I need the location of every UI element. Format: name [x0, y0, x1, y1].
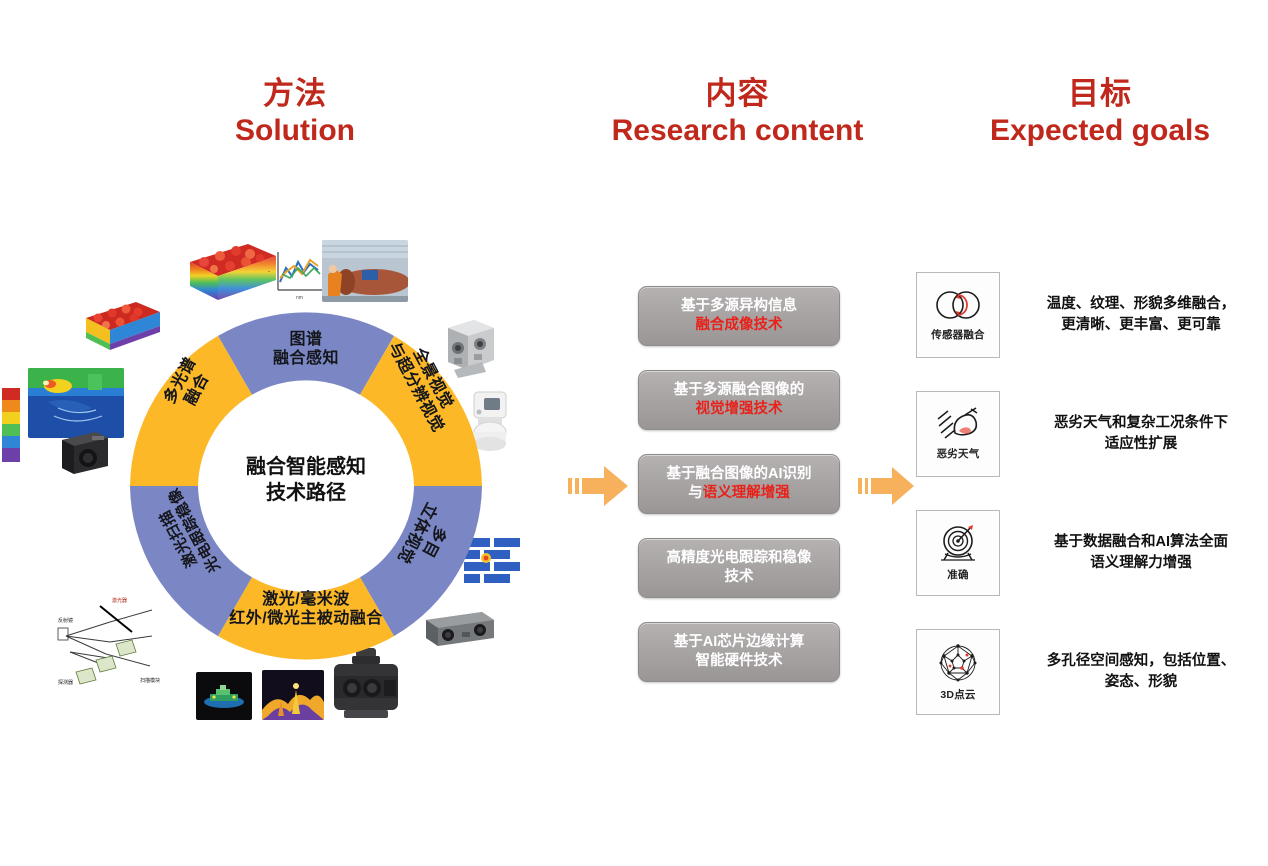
content-box-line1: 基于多源异构信息: [681, 297, 797, 316]
content-box-line1: 基于融合图像的AI识别: [667, 465, 812, 484]
thermal-camera-photo: [56, 424, 112, 476]
content-box-line2: 融合成像技术: [696, 316, 783, 335]
night-vision-scene-image: [196, 672, 252, 720]
hyperspectral-cube-image: [186, 240, 278, 306]
research-content-list: 基于多源异构信息 融合成像技术 基于多源融合图像的 视觉增强技术 基于融合图像的…: [638, 286, 838, 706]
svg-text:扫描模块: 扫描模块: [140, 677, 160, 684]
goal-text: 多孔径空间感知，包括位置、 姿态、形貌: [1028, 651, 1254, 692]
column-heading-content: 内容 Research content: [565, 76, 910, 148]
column-heading-solution: 方法 Solution: [160, 76, 430, 148]
content-box-line1: 基于AI芯片边缘计算: [674, 633, 805, 652]
heading-content-cn: 内容: [565, 76, 910, 113]
goal-icon-card[interactable]: 3D点云: [916, 629, 1000, 715]
solution-wheel: 图谱 融合感知 全景视觉 与超分辨视觉 多目 立体视觉 激光/毫米波 红外/微光…: [122, 302, 490, 670]
goal-icon-card[interactable]: 传感器融合: [916, 272, 1000, 358]
heading-solution-en: Solution: [160, 113, 430, 148]
goal-icon-card[interactable]: 准确: [916, 510, 1000, 596]
sensor-fusion-icon: [931, 288, 985, 324]
target-accuracy-icon: [935, 524, 981, 564]
spectral-strip-image: [0, 388, 22, 464]
goal-icon-label: 3D点云: [940, 687, 975, 702]
expected-goals-list: 传感器融合 温度、纹理、形貌多维融合， 更清晰、更丰富、更可靠 恶劣天气 恶劣天…: [916, 272, 1256, 748]
content-box-line2: 智能硬件技术: [696, 652, 783, 671]
content-box[interactable]: 基于AI芯片边缘计算 智能硬件技术: [638, 622, 840, 682]
heading-goals-cn: 目标: [940, 76, 1260, 113]
svg-text:反射镜: 反射镜: [58, 617, 73, 624]
content-box[interactable]: 高精度光电跟踪和稳像 技术: [638, 538, 840, 598]
goal-text: 温度、纹理、形貌多维融合， 更清晰、更丰富、更可靠: [1028, 294, 1254, 335]
goal-row: 3D点云 多孔径空间感知，包括位置、 姿态、形貌: [916, 629, 1256, 715]
wheel-label-top: 图谱 融合感知: [226, 330, 386, 368]
goal-text: 恶劣天气和复杂工况条件下 适应性扩展: [1028, 413, 1254, 454]
wheel-center-label: 融合智能感知 技术路径: [206, 454, 406, 507]
wheel-label-bottom: 激光/毫米波 红外/微光主被动融合: [168, 590, 444, 628]
pipeline-inspection-photo: [322, 240, 408, 302]
goal-row: 准确 基于数据融合和AI算法全面 语义理解力增强: [916, 510, 1256, 596]
svg-text:I: I: [268, 271, 272, 272]
content-box-line2: 语义理解增强: [703, 485, 790, 501]
goal-icon-card[interactable]: 恶劣天气: [916, 391, 1000, 477]
content-box-line1: 基于多源融合图像的: [674, 381, 805, 400]
heading-solution-cn: 方法: [160, 76, 430, 113]
point-cloud-3d-icon: [936, 642, 980, 684]
heading-goals-en: Expected goals: [940, 113, 1260, 148]
goal-icon-label: 准确: [947, 567, 968, 582]
spectral-curve-plot-image: I nm: [268, 244, 330, 306]
goal-row: 传感器融合 温度、纹理、形貌多维融合， 更清晰、更丰富、更可靠: [916, 272, 1256, 358]
heading-content-en: Research content: [565, 113, 910, 148]
arrow-solution-to-content: [568, 462, 630, 510]
ir-thermal-scene-image: [262, 670, 324, 720]
bad-weather-icon: [935, 407, 981, 443]
arrow-content-to-goals: [858, 462, 916, 510]
content-box-line2: 技术: [725, 568, 754, 587]
content-box-line1: 高精度光电跟踪和稳像: [667, 549, 812, 568]
goal-text: 基于数据融合和AI算法全面 语义理解力增强: [1028, 532, 1254, 573]
content-box-line2-prefix: 与: [688, 485, 703, 501]
content-box[interactable]: 基于多源异构信息 融合成像技术: [638, 286, 840, 346]
content-box[interactable]: 基于融合图像的AI识别 与语义理解增强: [638, 454, 840, 514]
svg-text:nm: nm: [296, 295, 303, 301]
goal-icon-label: 传感器融合: [931, 327, 985, 342]
content-box[interactable]: 基于多源融合图像的 视觉增强技术: [638, 370, 840, 430]
content-box-line2: 视觉增强技术: [696, 400, 783, 419]
goal-icon-label: 恶劣天气: [937, 446, 980, 461]
column-heading-goals: 目标 Expected goals: [940, 76, 1260, 148]
goal-row: 恶劣天气 恶劣天气和复杂工况条件下 适应性扩展: [916, 391, 1256, 477]
svg-text:探测器: 探测器: [58, 679, 73, 686]
